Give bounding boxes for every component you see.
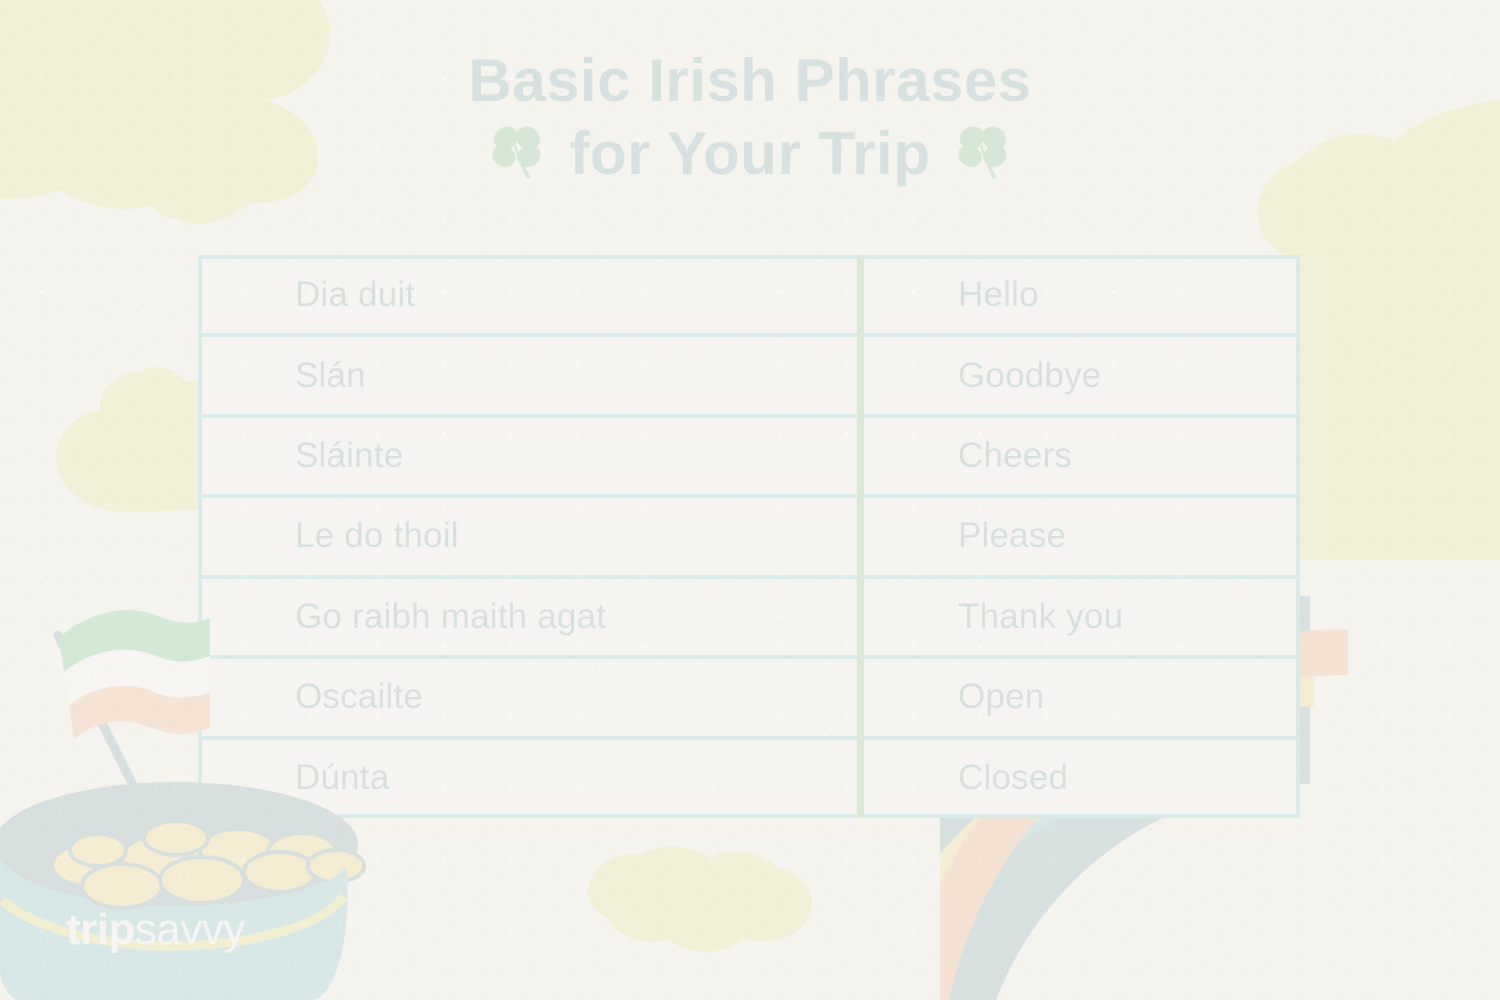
table-row: Le do thoil Please xyxy=(198,496,1300,576)
cell-irish: Dia duit xyxy=(198,275,860,315)
page-title-line-1: Basic Irish Phrases xyxy=(0,44,1500,117)
cloud-mid-left xyxy=(56,367,198,512)
shamrock-icon xyxy=(490,122,544,185)
cell-english: Please xyxy=(860,516,1300,556)
pot-body xyxy=(0,782,364,1000)
table-row: Slán Goodbye xyxy=(198,335,1300,415)
cell-irish: Slán xyxy=(198,356,860,396)
logo-trip-text: trip xyxy=(66,905,135,954)
infographic-canvas: Basic Irish Phrases for Your Trip xyxy=(0,0,1500,1000)
page-title-text-2: for Your Trip xyxy=(570,117,931,190)
cloud-bottom-center xyxy=(588,847,812,952)
table-row: Dia duit Hello xyxy=(198,255,1300,335)
cell-english: Cheers xyxy=(860,436,1300,476)
column-divider xyxy=(857,255,864,818)
tripsavvy-logo: tripsavvy xyxy=(66,908,245,952)
cell-irish: Le do thoil xyxy=(198,516,860,556)
cell-english: Thank you xyxy=(860,597,1300,637)
cell-english: Hello xyxy=(860,275,1300,315)
cell-irish: Sláinte xyxy=(198,436,860,476)
cell-english: Closed xyxy=(860,758,1300,798)
logo-savvy-text: savvy xyxy=(135,905,245,954)
shamrock-icon xyxy=(956,122,1010,185)
cell-english: Open xyxy=(860,677,1300,717)
table-row: Sláinte Cheers xyxy=(198,416,1300,496)
cell-english: Goodbye xyxy=(860,356,1300,396)
page-title-line-2-row: for Your Trip xyxy=(0,117,1500,190)
title-block: Basic Irish Phrases for Your Trip xyxy=(0,44,1500,190)
